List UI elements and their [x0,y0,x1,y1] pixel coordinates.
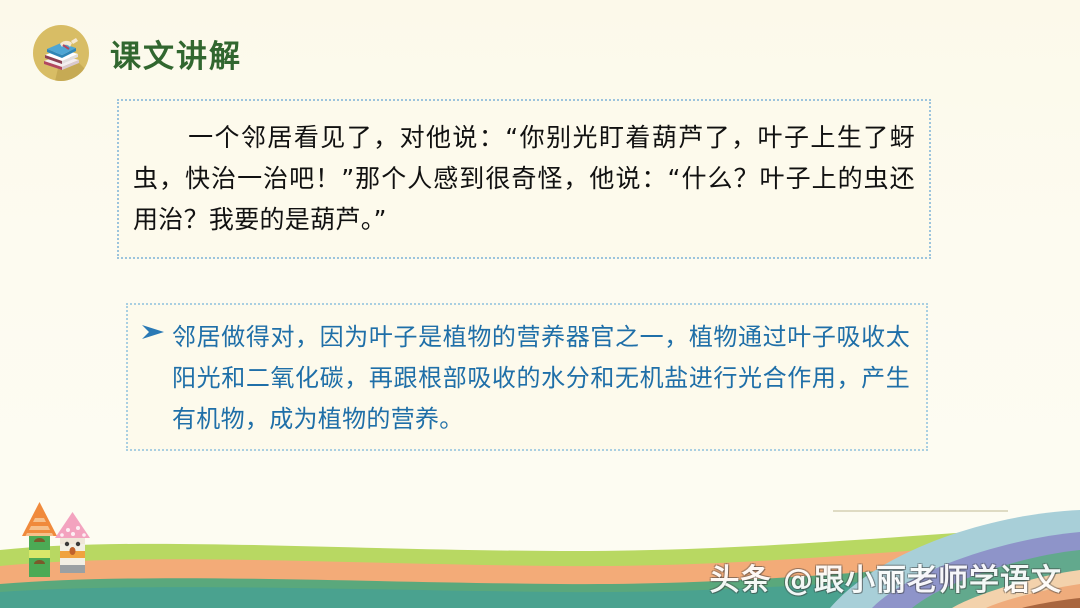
slide-header: 课文讲解 [0,0,1080,92]
explanation-note-box: 邻居做得对，因为叶子是植物的营养器官之一，植物通过叶子吸收太阳光和二氧化碳，再跟… [126,303,928,451]
slide-root: 课文讲解 一个邻居看见了，对他说：“你别光盯着葫芦了，叶子上生了蚜虫，快治一治吧… [0,0,1080,608]
house-pink-roof [55,512,90,573]
note-text-body: 邻居做得对，因为叶子是植物的营养器官之一，植物通过叶子吸收太阳光和二氧化碳，再跟… [128,305,926,440]
watermark-text: 头条 @跟小丽老师学语文 [710,555,1062,599]
watermark-divider-line [833,510,1008,512]
note-text: 邻居做得对，因为叶子是植物的营养器官之一，植物通过叶子吸收太阳光和二氧化碳，再跟… [172,323,910,433]
passage-text: 一个邻居看见了，对他说：“你别光盯着葫芦了，叶子上生了蚜虫，快治一治吧！”那个人… [133,123,915,234]
books-glyph [33,25,89,81]
page-title: 课文讲解 [110,31,242,76]
passage-text-body: 一个邻居看见了，对他说：“你别光盯着葫芦了，叶子上生了蚜虫，快治一治吧！”那个人… [119,101,929,240]
passage-text-box: 一个邻居看见了，对他说：“你别光盯着葫芦了，叶子上生了蚜虫，快治一治吧！”那个人… [117,99,931,259]
stacked-books-icon [33,25,89,81]
arrow-bullet-icon [140,322,166,342]
